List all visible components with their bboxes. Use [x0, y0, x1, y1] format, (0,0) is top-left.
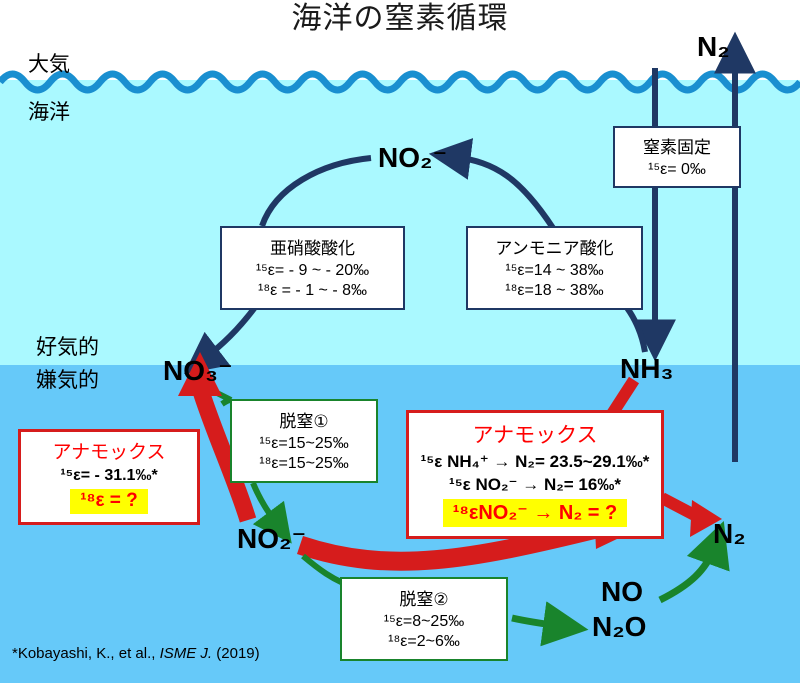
box-nitrogen-fixation: 窒素固定 ¹⁵ε= 0‰	[613, 126, 741, 188]
box-denitrification-2-line-2: ¹⁸ε=2~6‰	[346, 633, 502, 651]
arrow-nh3-to-anammox	[612, 380, 634, 414]
label-anaerobic: 嫌気的	[36, 370, 99, 391]
box-anammox-left-highlight: ¹⁸ε = ?	[70, 489, 148, 514]
arrow-den1-to-no2	[253, 483, 277, 524]
species-nitric-oxide: NO	[601, 578, 643, 606]
footnote-citation: *Kobayashi, K., et al., ISME J. (2019)	[12, 646, 260, 661]
species-nitrate: NO₃⁻	[163, 357, 233, 385]
box-anammox-right-line-2: ¹⁵ε NO₂⁻ → N₂= 16‰*	[415, 475, 655, 495]
box-ammonia-oxidation-line-2: ¹⁸ε=18 ~ 38‰	[472, 282, 637, 300]
species-nitrite-upper: NO₂⁻	[378, 144, 447, 172]
species-nitrite-lower: NO₂⁻	[237, 525, 306, 553]
footnote-year: (2019)	[216, 645, 259, 662]
arrow-ammonia-oxidation-to-no2	[455, 157, 553, 228]
box-denitrification-2-line-1: ¹⁵ε=8~25‰	[346, 613, 502, 631]
box-nitrogen-fixation-line-1: ¹⁵ε= 0‰	[619, 161, 735, 179]
box-anammox-right-line-1: ¹⁵ε NH₄⁺ → N₂= 23.5~29.1‰*	[415, 452, 655, 472]
box-anammox-left: アナモックス ¹⁵ε= - 31.1‰* ¹⁸ε = ?	[18, 429, 200, 525]
box-denitrification-1: 脱窒① ¹⁵ε=15~25‰ ¹⁸ε=15~25‰	[230, 399, 378, 483]
arrow-nitrite-oxidation-to-no3	[205, 306, 256, 358]
diagram-canvas: 海洋の窒素循環 大気 海洋 好気的 嫌気的 N₂ NO₂⁻ NO₃⁻ NH₃ N…	[0, 0, 800, 683]
box-nitrite-oxidation-line-2: ¹⁸ε = - 1 ~ - 8‰	[226, 282, 399, 300]
box-denitrification-2: 脱窒② ¹⁵ε=8~25‰ ¹⁸ε=2~6‰	[340, 577, 508, 661]
arrow-no-to-n2	[660, 548, 714, 600]
box-ammonia-oxidation-line-1: ¹⁵ε=14 ~ 38‰	[472, 262, 637, 280]
species-n2-water: N₂	[713, 520, 746, 548]
box-nitrite-oxidation-line-1: ¹⁵ε= - 9 ~ - 20‰	[226, 262, 399, 280]
box-anammox-right: アナモックス ¹⁵ε NH₄⁺ → N₂= 23.5~29.1‰* ¹⁵ε NO…	[406, 410, 664, 539]
box-ammonia-oxidation: アンモニア酸化 ¹⁵ε=14 ~ 38‰ ¹⁸ε=18 ~ 38‰	[466, 226, 643, 310]
box-denitrification-1-line-2: ¹⁸ε=15~25‰	[236, 455, 372, 473]
arrow-den2-to-n2o	[512, 618, 560, 626]
box-nitrogen-fixation-title: 窒素固定	[619, 133, 735, 158]
box-anammox-right-title: アナモックス	[415, 419, 655, 449]
species-nitrous-oxide: N₂O	[592, 613, 646, 641]
footnote-prefix: *Kobayashi, K., et al.,	[12, 645, 155, 662]
box-ammonia-oxidation-title: アンモニア酸化	[472, 234, 637, 259]
box-denitrification-1-line-1: ¹⁵ε=15~25‰	[236, 435, 372, 453]
label-aerobic: 好気的	[36, 337, 99, 358]
species-n2-atmosphere: N₂	[697, 33, 730, 61]
box-anammox-right-highlight: ¹⁸εNO₂⁻ → N₂ = ?	[443, 499, 628, 527]
box-anammox-left-line-1: ¹⁵ε= - 31.1‰*	[25, 467, 193, 485]
box-denitrification-1-title: 脱窒①	[236, 407, 372, 432]
box-denitrification-2-title: 脱窒②	[346, 585, 502, 610]
footnote-journal: ISME J.	[160, 645, 213, 662]
label-ocean: 海洋	[28, 102, 70, 123]
species-ammonia: NH₃	[620, 355, 673, 383]
box-anammox-left-title: アナモックス	[25, 437, 193, 464]
page-title: 海洋の窒素循環	[0, 4, 800, 34]
box-nitrite-oxidation-title: 亜硝酸酸化	[226, 234, 399, 259]
label-atmosphere: 大気	[28, 54, 70, 75]
arrow-no2-to-nitrite-ox-box	[262, 158, 371, 226]
box-nitrite-oxidation: 亜硝酸酸化 ¹⁵ε= - 9 ~ - 20‰ ¹⁸ε = - 1 ~ - 8‰	[220, 226, 405, 310]
